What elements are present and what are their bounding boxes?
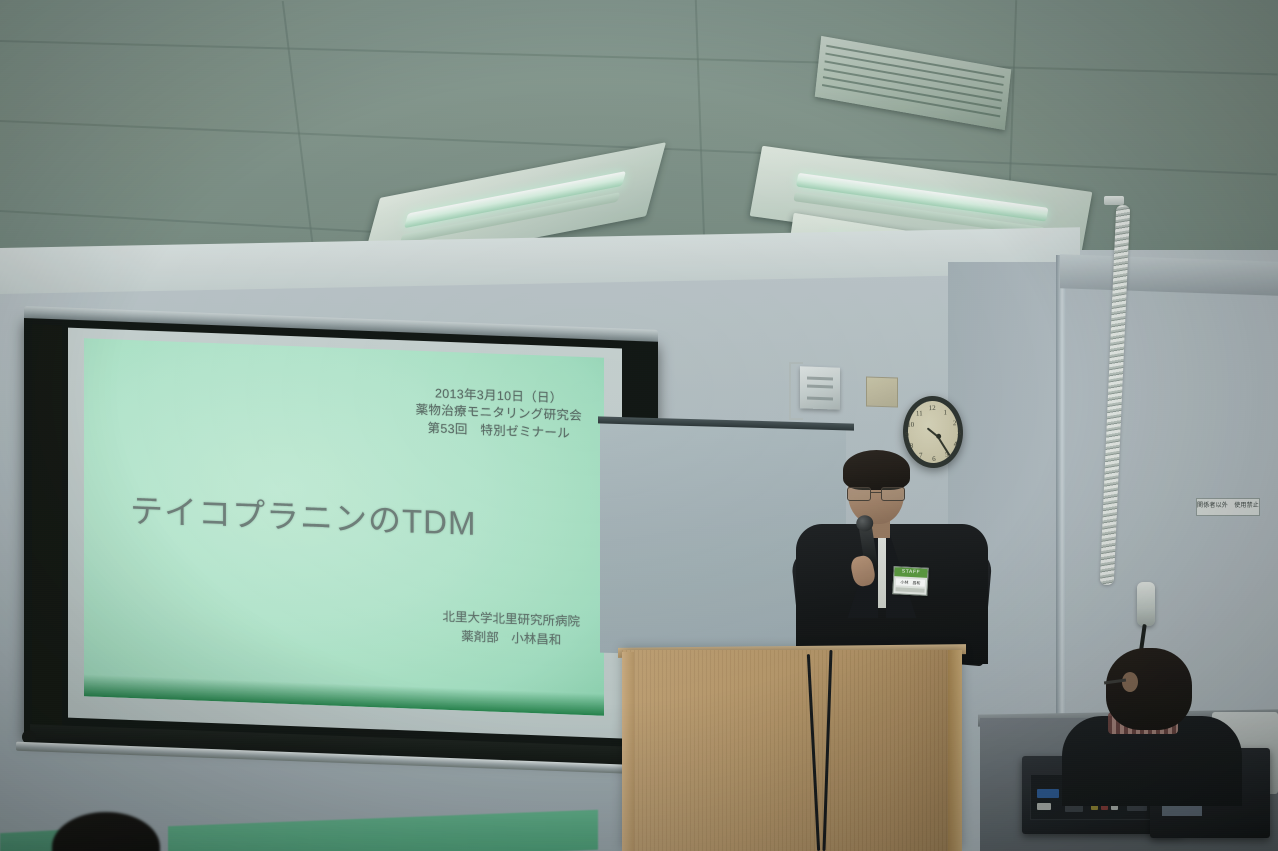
clock-numeral: 11: [894, 409, 944, 419]
slide-title: テイコプラニンのTDM: [130, 484, 476, 545]
ceiling-cord-mount: [1104, 196, 1124, 205]
projected-slide: 2013年3月10日（日） 薬物治療モニタリング研究会 第53回 特別ゼミナール…: [84, 338, 604, 716]
clock-numeral: 8: [886, 441, 936, 451]
photo-scene: 2013年3月10日（日） 薬物治療モニタリング研究会 第53回 特別ゼミナール…: [0, 0, 1278, 851]
staff-name-badge: STAFF 小林 昌和: [892, 566, 928, 596]
projection-screen-assembly: 2013年3月10日（日） 薬物治療モニタリング研究会 第53回 特別ゼミナール…: [24, 318, 658, 782]
slide-affiliation-block: 北里大学北里研究所病院 薬剤部 小林昌和: [442, 608, 580, 651]
wall-corner-edge: [1056, 255, 1066, 775]
clock-numeral: 9: [882, 430, 932, 440]
glasses-icon: [847, 487, 905, 499]
wall-access-plate: [866, 376, 898, 407]
slide-header-block: 2013年3月10日（日） 薬物治療モニタリング研究会 第53回 特別ゼミナール: [416, 385, 582, 443]
slide-content: 2013年3月10日（日） 薬物治療モニタリング研究会 第53回 特別ゼミナール…: [84, 338, 604, 716]
badge-name-label: 小林 昌和: [896, 578, 925, 587]
wall-clock: 12 1 2 3 4 5 6 7 8 9 10 11: [902, 395, 964, 469]
podium-right-edge: [948, 650, 962, 851]
podium-left-edge: [622, 652, 634, 851]
badge-staff-label: STAFF: [894, 567, 927, 578]
screen-left-dark-band: [32, 324, 62, 725]
wall-sign: 関係者以外 使用禁止: [1196, 498, 1260, 516]
speaker-hair: [843, 450, 910, 490]
seated-person-ear: [1122, 672, 1138, 692]
wall-control-box[interactable]: [800, 366, 840, 409]
cord-connector: [1137, 582, 1155, 626]
seated-person-head: [1106, 648, 1192, 730]
clock-center-pin: [936, 434, 941, 439]
badge-bottom-bar: [895, 587, 924, 593]
podium: [622, 650, 962, 851]
clock-face: 12 1 2 3 4 5 6 7 8 9 10 11: [907, 400, 959, 464]
